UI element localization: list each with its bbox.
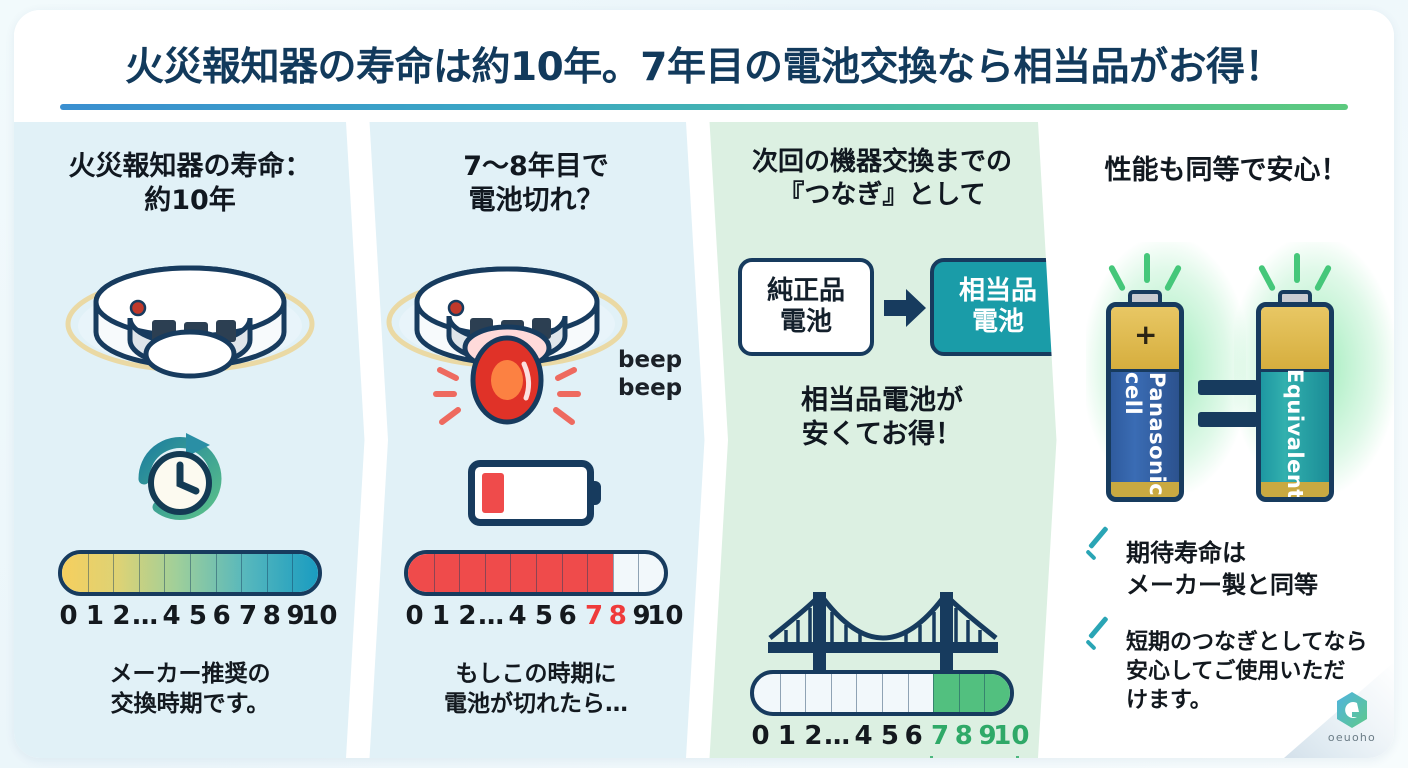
panel-battery-dead-heading: 7〜8年目で 電池切れ？ xyxy=(366,150,706,218)
tick-ellipsis: … xyxy=(824,721,850,751)
genuine-battery-box: 純正品 電池 xyxy=(738,258,874,356)
box-left-line-2: 電池 xyxy=(767,307,845,338)
heading-line-2: 『つなぎ』として xyxy=(706,179,1058,212)
battery-plus-icon: + xyxy=(1134,318,1157,351)
bridge-icon xyxy=(768,592,998,674)
check-2-line-2: 安心してご使用いただ xyxy=(1126,657,1367,686)
clock-refresh-icon xyxy=(124,427,236,533)
equivalent-battery-box: 相当品 電池 xyxy=(930,258,1066,356)
check-item-1: 期待寿命は メーカー製と同等 xyxy=(1082,538,1382,601)
check-icon xyxy=(1082,632,1112,662)
smoke-detector-alarm-icon xyxy=(382,252,632,432)
caption-line-1: メーカー推奨の xyxy=(14,660,366,690)
tick-8: 8 xyxy=(955,721,973,751)
subhead-line-1: 相当品電池が xyxy=(706,384,1058,418)
lifespan-scale: 0 1 2 … 4 5 6 7 8 9 10 xyxy=(58,550,322,635)
scale-ticks: 0 1 2 … 4 5 6 7 8 9 10 xyxy=(750,721,1014,755)
tick-8: 8 xyxy=(263,601,281,631)
remaining-period-scale: 0 1 2 … 4 5 6 7 8 9 10 xyxy=(750,670,1014,755)
tick-5: 5 xyxy=(535,601,553,631)
tick-ellipsis: … xyxy=(132,601,158,631)
scale-bar xyxy=(404,550,668,596)
tick-4: 4 xyxy=(854,721,872,751)
tick-5: 5 xyxy=(189,601,207,631)
heading-line-2: 電池切れ？ xyxy=(366,184,706,218)
panel-equivalent-heading: 性能も同等で安心！ xyxy=(1058,154,1394,188)
check-2-line-1: 短期のつなぎとしてなら xyxy=(1126,628,1367,657)
panel-equivalent-safe: 性能も同等で安心！ Panasonic xyxy=(1058,122,1394,758)
box-left-line-1: 純正品 xyxy=(767,276,845,307)
tick-7: 7 xyxy=(239,601,257,631)
panel-bridge-heading: 次回の機器交換までの 『つなぎ』として xyxy=(706,146,1058,211)
tick-10: 10 xyxy=(647,601,683,631)
scale-ticks: 0 1 2 … 4 5 6 7 8 9 10 xyxy=(58,601,322,635)
tick-7: 7 xyxy=(585,601,603,631)
tick-2: 2 xyxy=(458,601,476,631)
scale-ticks: 0 1 2 … 4 5 6 7 8 9 10 xyxy=(404,601,668,635)
box-right-line-1: 相当品 xyxy=(959,276,1037,307)
panel-battery-dead-caption: もしこの時期に 電池が切れたら… xyxy=(366,660,706,720)
heading-line-1: 性能も同等で安心！ xyxy=(1058,154,1394,188)
tick-7: 7 xyxy=(931,721,949,751)
heading-line-1: 火災報知器の寿命： xyxy=(14,150,366,184)
battery-left-label: Panasonic cell xyxy=(1111,372,1179,497)
panel-bridge-period: 次回の機器交換までの 『つなぎ』として 純正品 電池 相当 xyxy=(706,122,1058,758)
check-icon xyxy=(1082,542,1112,572)
panel-lifespan-heading: 火災報知器の寿命： 約10年 xyxy=(14,150,366,218)
beep-line-1: beep xyxy=(618,347,682,375)
panel-bridge-subhead: 相当品電池が 安くてお得！ xyxy=(706,384,1058,452)
panel-battery-dead: 7〜8年目で 電池切れ？ xyxy=(366,122,706,758)
brand-logo-text: oeuoho xyxy=(1328,731,1376,744)
tick-0: 0 xyxy=(752,721,770,751)
heading-line-2: 約10年 xyxy=(14,184,366,218)
brand-logo: oeuoho xyxy=(1328,691,1376,744)
caption-line-2: 交換時期です。 xyxy=(14,690,366,720)
scale-bar xyxy=(750,670,1014,716)
spark-icon xyxy=(1144,253,1150,283)
tick-0: 0 xyxy=(60,601,78,631)
scale-bar xyxy=(58,550,322,596)
title-underline-gradient xyxy=(60,104,1348,110)
tick-8: 8 xyxy=(609,601,627,631)
tick-ellipsis: … xyxy=(478,601,504,631)
battery-low-icon xyxy=(468,460,594,526)
tick-1: 1 xyxy=(778,721,796,751)
caption-line-2: 電池が切れたら… xyxy=(366,690,706,720)
tick-4: 4 xyxy=(162,601,180,631)
box-right-line-2: 電池 xyxy=(959,307,1037,338)
check-item-1-text: 期待寿命は メーカー製と同等 xyxy=(1126,538,1318,601)
hexagon-logo-icon xyxy=(1335,691,1369,729)
panel-lifespan-caption: メーカー推奨の 交換時期です。 xyxy=(14,660,366,720)
tick-10: 10 xyxy=(993,721,1029,751)
alarm-sound-text: beep beep xyxy=(618,347,682,402)
tick-10: 10 xyxy=(301,601,337,631)
tick-5: 5 xyxy=(881,721,899,751)
check-1-line-2: メーカー製と同等 xyxy=(1126,570,1318,602)
infographic-canvas: 火災報知器の寿命は約10年。7年目の電池交換なら相当品がお得！ 火災報知器の寿命… xyxy=(0,0,1408,768)
panels-row: 火災報知器の寿命： 約10年 xyxy=(14,122,1394,758)
infographic-card: 火災報知器の寿命は約10年。7年目の電池交換なら相当品がお得！ 火災報知器の寿命… xyxy=(14,10,1394,758)
battery-equivalent: Equivalent xyxy=(1256,302,1334,502)
header: 火災報知器の寿命は約10年。7年目の電池交換なら相当品がお得！ xyxy=(14,10,1394,122)
battery-right-label: Equivalent xyxy=(1261,372,1329,497)
check-1-line-1: 期待寿命は xyxy=(1126,538,1318,570)
heading-line-1: 次回の機器交換までの xyxy=(706,146,1058,179)
heading-line-1: 7〜8年目で xyxy=(366,150,706,184)
caption-line-1: もしこの時期に xyxy=(366,660,706,690)
smoke-detector-icon xyxy=(60,246,320,406)
remaining-period-bracket xyxy=(930,756,1020,758)
tick-4: 4 xyxy=(508,601,526,631)
tick-6: 6 xyxy=(905,721,923,751)
battery-dead-scale: 0 1 2 … 4 5 6 7 8 9 10 xyxy=(404,550,668,635)
equals-icon xyxy=(1198,380,1258,427)
tick-1: 1 xyxy=(86,601,104,631)
subhead-line-2: 安くてお得！ xyxy=(706,418,1058,452)
tick-2: 2 xyxy=(804,721,822,751)
spark-icon xyxy=(1294,253,1300,283)
beep-line-2: beep xyxy=(618,375,682,403)
arrow-right-icon xyxy=(884,289,926,327)
tick-2: 2 xyxy=(112,601,130,631)
tick-1: 1 xyxy=(432,601,450,631)
tick-0: 0 xyxy=(406,601,424,631)
tick-6: 6 xyxy=(213,601,231,631)
page-title: 火災報知器の寿命は約10年。7年目の電池交換なら相当品がお得！ xyxy=(14,36,1394,92)
panel-lifespan: 火災報知器の寿命： 約10年 xyxy=(14,122,366,758)
tick-6: 6 xyxy=(559,601,577,631)
